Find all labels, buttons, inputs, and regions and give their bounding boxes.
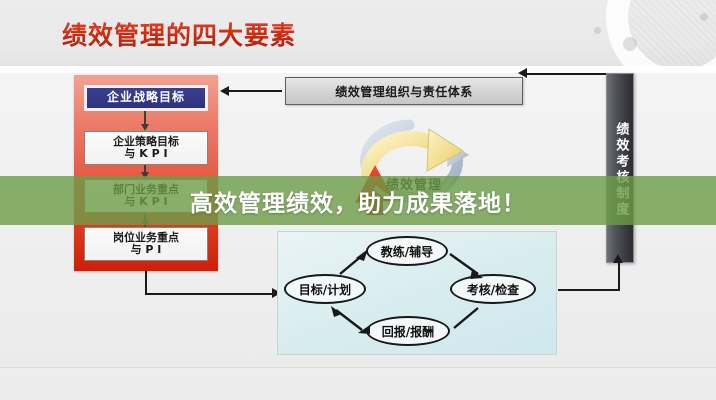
appraisal-system-bar: 绩效考核制度	[606, 73, 634, 263]
arrowhead-icon	[470, 270, 483, 279]
page-title: 绩效管理的四大要素	[62, 16, 296, 52]
arrowhead-icon	[331, 306, 342, 317]
slide-header: 绩效管理的四大要素	[0, 0, 716, 66]
header-divider	[0, 66, 716, 73]
arrow-strategy-to-policy	[144, 111, 146, 125]
arrow-policy-to-department	[144, 165, 146, 173]
cycle-arrows-icon	[278, 232, 558, 356]
org-responsibility-box: 绩效管理组织与责任体系	[285, 77, 523, 105]
page-footer	[0, 368, 716, 400]
slide-screenshot: 绩效管理的四大要素 企业战略目标 企业策略目标 与 K P I 部门业务重点 与…	[0, 0, 716, 400]
decorative-dot-icon	[623, 37, 637, 51]
arrow-position-to-cycle	[145, 271, 272, 295]
decorative-dot-icon	[700, 13, 708, 21]
decorative-arc-icon	[606, 0, 716, 66]
node-label: 企业战略目标	[107, 91, 185, 104]
node-label: 企业策略目标 与 K P I	[113, 136, 179, 161]
decorative-dot-icon	[594, 27, 601, 34]
node-enterprise-strategy-goal: 企业战略目标	[84, 85, 208, 111]
node-label: 岗位业务重点 与 P I	[113, 232, 179, 257]
promo-banner-text: 高效管理绩效，助力成果落地！	[190, 184, 526, 218]
node-position-focus-pi: 岗位业务重点 与 P I	[84, 227, 208, 261]
node-enterprise-policy-kpi: 企业策略目标 与 K P I	[84, 131, 208, 165]
promo-banner: 高效管理绩效，助力成果落地！	[0, 176, 716, 225]
arrow-cycle-to-appraisal-bar	[558, 263, 620, 291]
pdca-cycle-panel: 目标/计划 教练/辅导 考核/检查 回报/报酬	[277, 231, 557, 355]
arrow-org-to-strategy-chain	[228, 90, 282, 92]
